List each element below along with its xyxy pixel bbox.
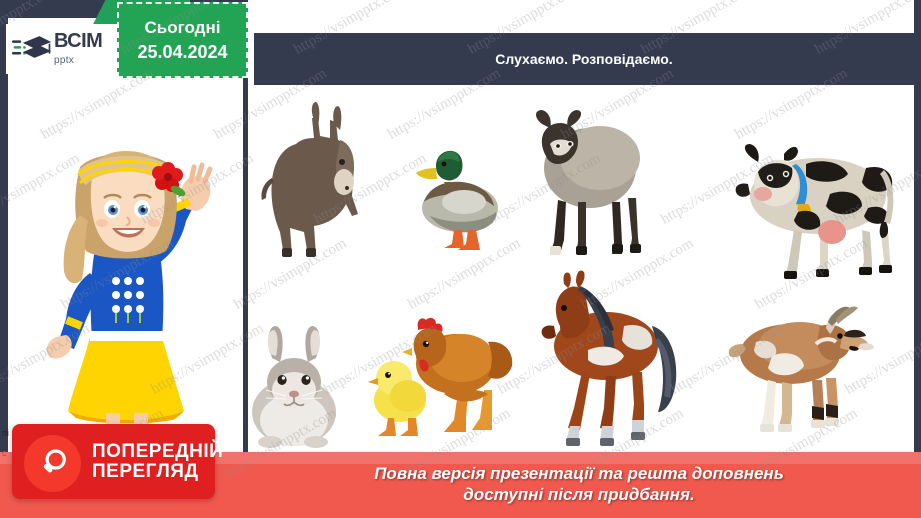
animal-donkey — [256, 96, 372, 264]
page-title: Слухаємо. Розповідаємо. — [495, 51, 672, 67]
date-badge-label: Сьогодні — [145, 18, 221, 38]
animal-cow — [710, 138, 910, 288]
preview-badge[interactable]: ПОПЕРЕДНІЙ ПЕРЕГЛЯД — [12, 424, 215, 499]
slide-title-bar: Слухаємо. Розповідаємо. — [254, 33, 914, 85]
magnifier-icon — [24, 435, 81, 492]
animal-rabbit — [238, 324, 350, 448]
today-date-badge: Сьогодні 25.04.2024 — [117, 2, 248, 78]
animal-sheep — [520, 96, 648, 264]
preview-overlay-message: Повна версія презентації та решта доповн… — [244, 455, 914, 513]
ukrainian-girl-illustration — [28, 105, 224, 425]
leftover-fragment-1: пі — [2, 428, 9, 438]
leftover-fragment-2: с — [2, 448, 7, 458]
graduation-cap-icon — [12, 32, 52, 66]
animal-hen — [400, 308, 520, 438]
animal-duck — [406, 146, 506, 254]
animal-goat — [716, 290, 876, 450]
right-navy-edge — [914, 0, 921, 518]
preview-badge-line-1: ПОПЕРЕДНІЙ — [92, 441, 223, 462]
overlay-line-2: доступні після придбання. — [463, 484, 694, 505]
overlay-line-1: Повна версія презентації та решта доповн… — [374, 463, 784, 484]
logo-name: ВСІМ — [54, 30, 102, 52]
preview-badge-line-2: ПЕРЕГЛЯД — [92, 461, 199, 482]
animal-horse — [528, 268, 698, 448]
date-badge-value: 25.04.2024 — [137, 42, 227, 63]
logo-subtitle: pptx — [54, 55, 74, 66]
brand-logo: ВСІМ pptx — [6, 24, 118, 74]
slide-viewer: ВСІМ pptx Сьогодні 25.04.2024 Слухаємо. … — [0, 0, 921, 518]
